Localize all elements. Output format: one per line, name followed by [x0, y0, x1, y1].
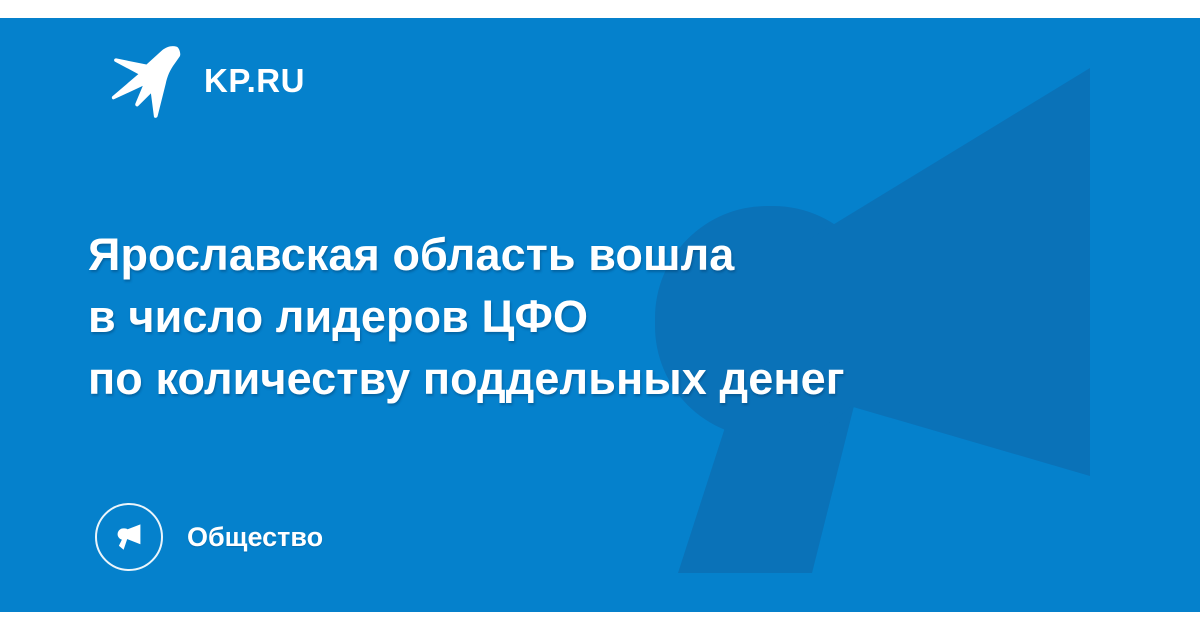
megaphone-glyph-icon — [109, 517, 149, 557]
headline-line-1: Ярославская область вошла — [88, 224, 1108, 286]
brand-lockup[interactable]: KP.RU — [108, 40, 305, 120]
megaphone-icon — [95, 503, 163, 571]
social-share-card: KP.RU Ярославская область вошла в число … — [0, 0, 1200, 630]
headline-line-2: в число лидеров ЦФО — [88, 286, 1108, 348]
headline: Ярославская область вошла в число лидеро… — [88, 224, 1108, 410]
category-badge[interactable]: Общество — [95, 502, 323, 572]
brand-name: KP.RU — [204, 64, 305, 97]
swallow-bird-icon — [108, 41, 182, 119]
headline-line-3: по количеству поддельных денег — [88, 348, 1108, 410]
category-label: Общество — [187, 524, 323, 551]
card-canvas: KP.RU Ярославская область вошла в число … — [0, 18, 1200, 612]
